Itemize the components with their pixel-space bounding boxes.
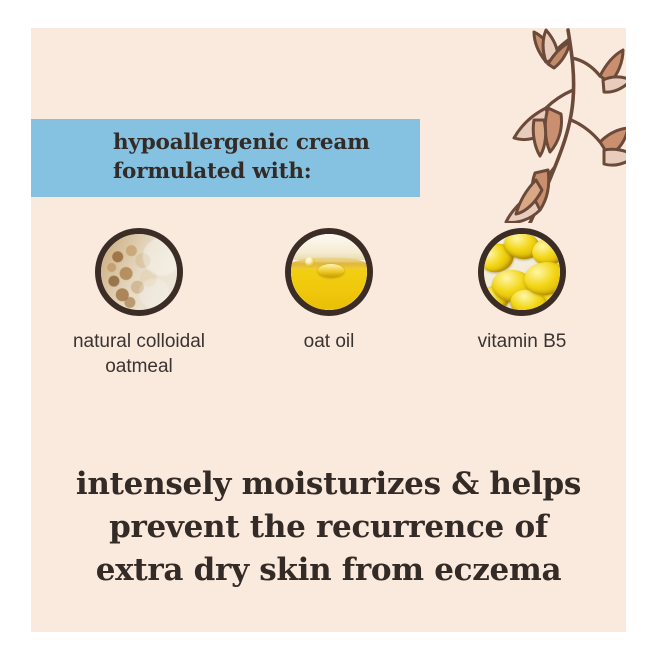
ingredient-item-oatmeal: natural colloidal oatmeal (44, 228, 234, 379)
oat-sprig-icon (476, 28, 626, 223)
ingredient-label-vitamin-b5: vitamin B5 (427, 329, 617, 354)
ingredient-label-line-2: oatmeal (105, 356, 173, 377)
banner-heading: hypoallergenic cream formulated with: (113, 128, 413, 186)
benefit-headline: intensely moisturizes & helps prevent th… (31, 463, 626, 592)
oat-oil-texture (291, 234, 367, 310)
ingredient-item-vitamin-b5: vitamin B5 (427, 228, 617, 354)
ingredient-label-line-1: vitamin B5 (478, 331, 567, 352)
vitamin-capsules-texture (484, 234, 560, 310)
headline-line-2: prevent the recurrence of (31, 506, 626, 549)
ingredient-label-line-1: natural colloidal (73, 331, 205, 352)
ingredient-label-oat-oil: oat oil (234, 329, 424, 354)
beige-canvas: hypoallergenic cream formulated with: na… (31, 28, 626, 632)
banner-line-2: formulated with: (113, 157, 413, 186)
product-infographic: hypoallergenic cream formulated with: na… (0, 0, 648, 658)
ingredient-item-oat-oil: oat oil (234, 228, 424, 354)
headline-line-3: extra dry skin from eczema (31, 549, 626, 592)
vitamin-b5-circle-icon (478, 228, 566, 316)
headline-line-1: intensely moisturizes & helps (31, 463, 626, 506)
ingredient-row: natural colloidal oatmeal oat oil (31, 228, 626, 428)
banner-line-1: hypoallergenic cream (113, 128, 413, 157)
oil-top-wash (291, 234, 367, 260)
oil-bubble (305, 257, 315, 267)
ingredient-label-oatmeal: natural colloidal oatmeal (44, 329, 234, 379)
ingredient-label-line-1: oat oil (304, 331, 355, 352)
hypoallergenic-banner: hypoallergenic cream formulated with: (31, 119, 420, 197)
oatmeal-circle-icon (95, 228, 183, 316)
oat-oil-circle-icon (285, 228, 373, 316)
oatmeal-texture (101, 234, 177, 310)
